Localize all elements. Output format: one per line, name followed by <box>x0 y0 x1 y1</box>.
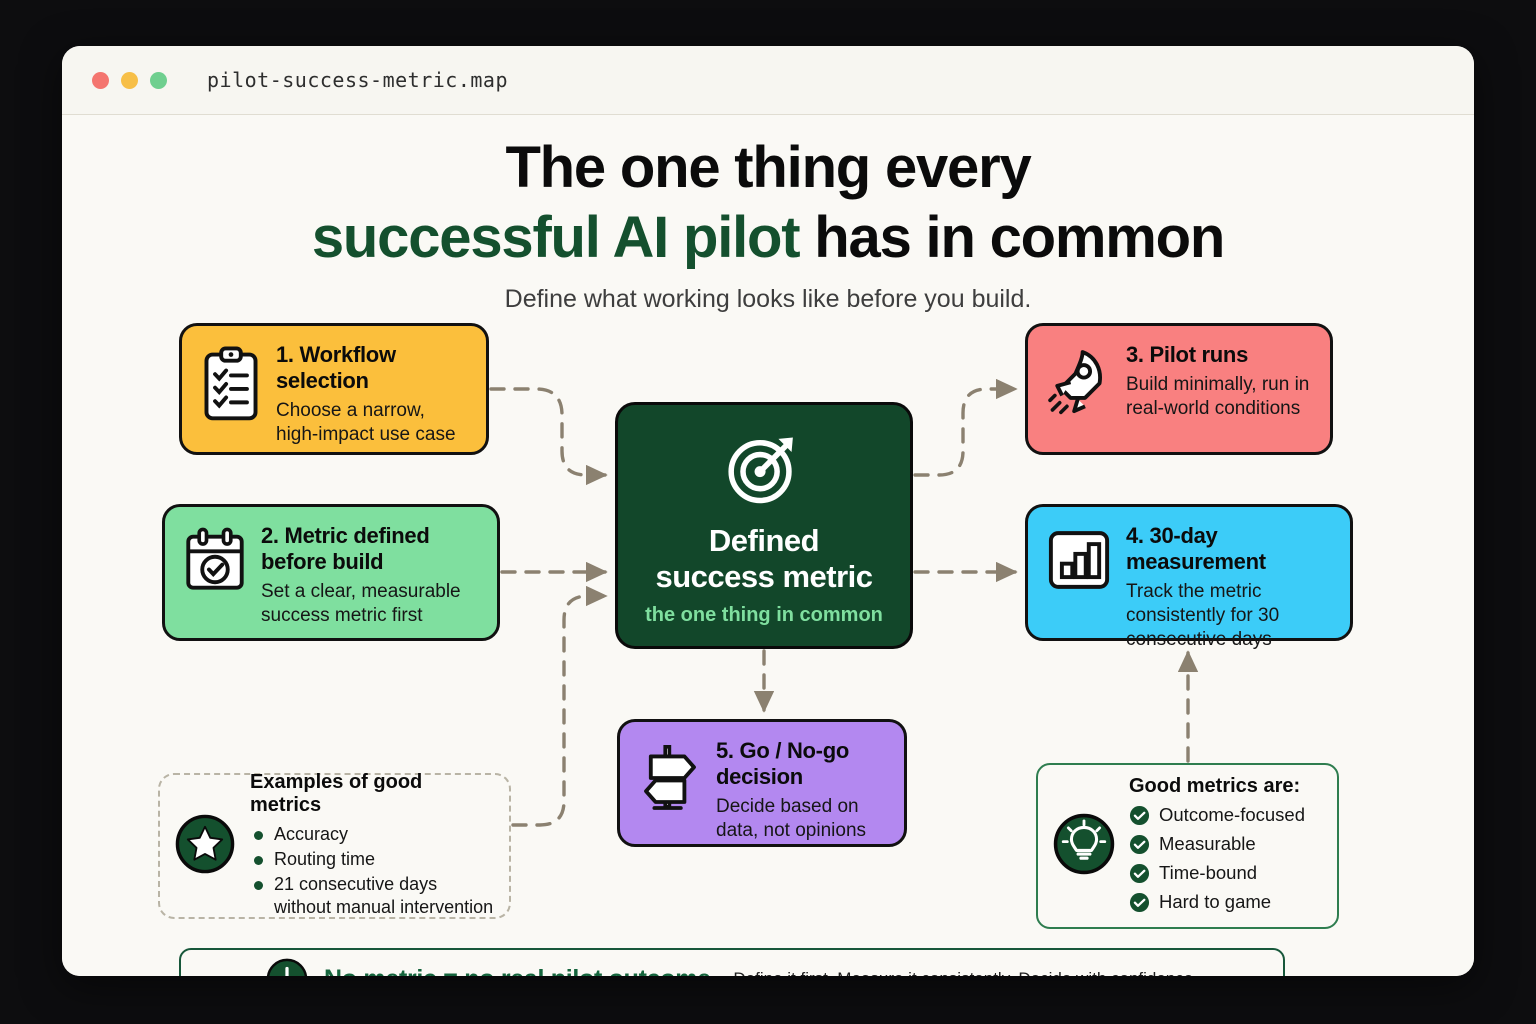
good-metrics-heading: Good metrics are: <box>1129 775 1323 798</box>
card-title: 1. Workflow selection <box>276 342 468 394</box>
step-card-pilot-runs[interactable]: 3. Pilot runs Build minimally, run in re… <box>1025 323 1333 455</box>
examples-list: Accuracy Routing time 21 consecutive day… <box>250 823 495 920</box>
clipboard-checklist-icon <box>200 346 262 427</box>
list-item: Routing time <box>250 848 495 872</box>
window-filename: pilot-success-metric.map <box>207 68 508 92</box>
card-description: Decide based on data, not opinions <box>716 795 886 843</box>
step-card-30-day-measurement[interactable]: 4. 30-day measurement Track the metric c… <box>1025 504 1353 641</box>
list-item: Measurable <box>1129 830 1323 859</box>
wire-hub-to-card3 <box>915 389 1015 475</box>
list-item: Hard to game <box>1129 888 1323 917</box>
maximize-window-button[interactable] <box>150 72 167 89</box>
step-card-workflow-selection[interactable]: 1. Workflow selection Choose a narrow, h… <box>179 323 489 455</box>
target-dart-icon <box>722 427 806 511</box>
list-item-label: Outcome-focused <box>1159 801 1305 830</box>
lightbulb-icon <box>1052 812 1116 881</box>
page-title: The one thing every successful AI pilot … <box>62 133 1474 272</box>
examples-of-good-metrics-box: Examples of good metrics Accuracy Routin… <box>158 773 511 919</box>
headline-line-1: The one thing every <box>505 135 1030 200</box>
check-circle-icon <box>1129 863 1150 884</box>
wire-examples-to-hub <box>513 596 605 825</box>
rocket-icon <box>1046 346 1112 421</box>
headline-line-2-tail: has in common <box>799 205 1224 270</box>
card-title: 3. Pilot runs <box>1126 342 1312 368</box>
bottom-callout-banner: No metric = no real pilot outcome. Defin… <box>179 948 1285 976</box>
headline-highlight: successful AI pilot <box>312 205 800 270</box>
list-item: Accuracy <box>250 823 495 847</box>
minimize-window-button[interactable] <box>121 72 138 89</box>
banner-headline: No metric = no real pilot outcome. <box>324 965 717 977</box>
card-title: 4. 30-day measurement <box>1126 523 1332 575</box>
card-title: 2. Metric defined before build <box>261 523 479 575</box>
card-description: Choose a narrow, high-impact use case <box>276 399 468 447</box>
exclamation-circle-icon <box>266 958 308 976</box>
list-item: 21 consecutive days without manual inter… <box>250 873 495 921</box>
window-titlebar: pilot-success-metric.map <box>62 46 1474 115</box>
check-circle-icon <box>1129 805 1150 826</box>
hub-title: Definedsuccess metric <box>655 523 872 595</box>
step-card-metric-defined-before-build[interactable]: 2. Metric defined before build Set a cle… <box>162 504 500 641</box>
list-item-label: Measurable <box>1159 830 1256 859</box>
list-item-label: Hard to game <box>1159 888 1271 917</box>
diagram-canvas: The one thing every successful AI pilot … <box>62 115 1474 976</box>
step-card-go-no-go-decision[interactable]: 5. Go / No-go decision Decide based on d… <box>617 719 907 847</box>
bar-chart-icon <box>1046 527 1112 598</box>
card-description: Set a clear, measurable success metric f… <box>261 580 479 628</box>
card-description: Track the metric consistently for 30 con… <box>1126 580 1332 652</box>
good-metrics-list: Outcome-focused Measurable <box>1129 801 1323 916</box>
banner-subtext: Define it first. Measure it consistently… <box>733 969 1198 976</box>
list-item: Outcome-focused <box>1129 801 1323 830</box>
app-window: pilot-success-metric.map The one thing e… <box>62 46 1474 976</box>
calendar-check-icon <box>183 527 247 600</box>
check-circle-icon <box>1129 834 1150 855</box>
examples-heading: Examples of good metrics <box>250 771 495 817</box>
hub-subtitle: the one thing in common <box>645 604 883 627</box>
card-title: 5. Go / No-go decision <box>716 738 886 790</box>
star-badge-icon <box>174 813 236 880</box>
good-metrics-criteria-box: Good metrics are: Outcome-focused <box>1036 763 1339 929</box>
signpost-icon <box>638 742 702 819</box>
list-item: Time-bound <box>1129 859 1323 888</box>
card-description: Build minimally, run in real-world condi… <box>1126 373 1312 421</box>
close-window-button[interactable] <box>92 72 109 89</box>
list-item-label: Time-bound <box>1159 859 1257 888</box>
wire-card1-to-hub <box>491 389 605 475</box>
check-circle-icon <box>1129 892 1150 913</box>
hub-node-defined-success-metric[interactable]: Definedsuccess metric the one thing in c… <box>615 402 913 649</box>
page-subtitle: Define what working looks like before yo… <box>62 285 1474 314</box>
